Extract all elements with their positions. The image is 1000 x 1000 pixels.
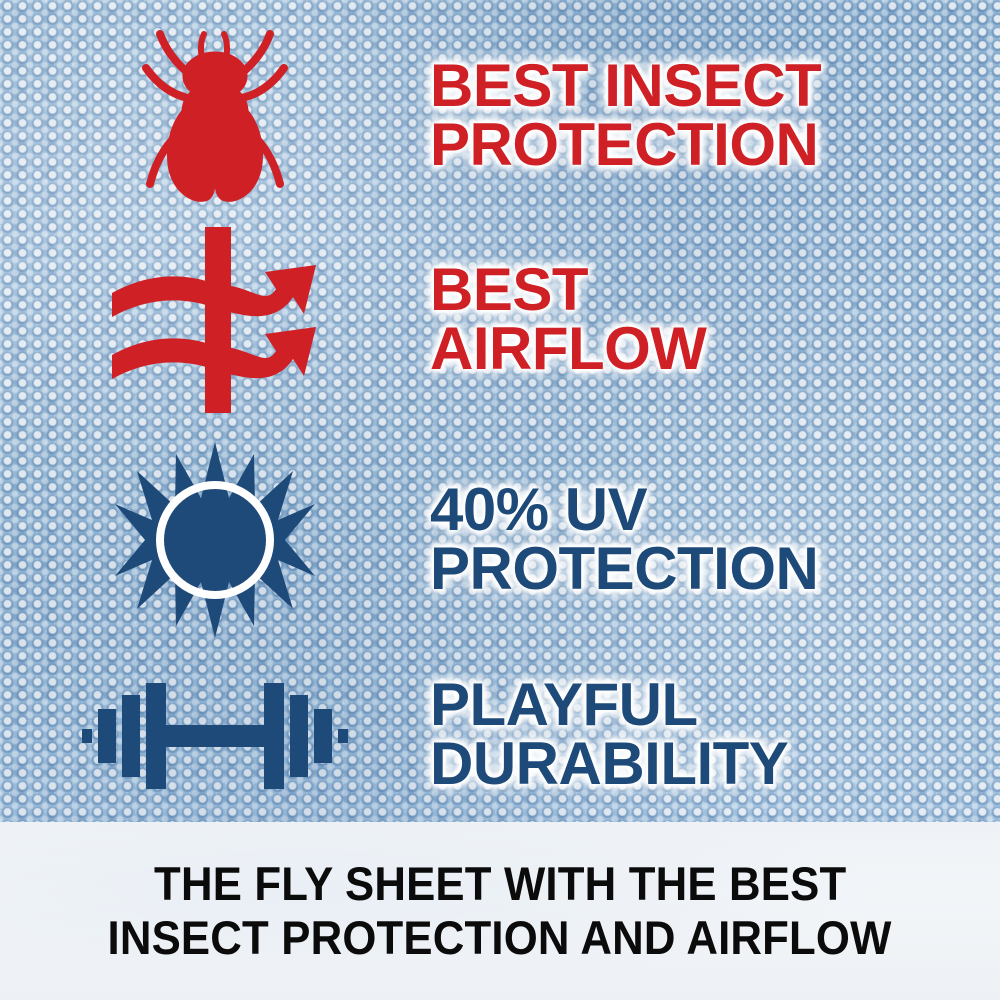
- feature-label-uv-protection: 40% UV PROTECTION: [430, 481, 1000, 599]
- feature-row-uv-protection: 40% UV PROTECTION: [0, 438, 1000, 642]
- feature-row-insect-protection: BEST INSECT PROTECTION: [0, 18, 1000, 214]
- feature-label-line-2: PROTECTION: [430, 116, 982, 175]
- feature-label-line-1: 40% UV: [430, 481, 982, 540]
- feature-label-line-1: BEST: [430, 261, 982, 320]
- feature-label-line-2: PROTECTION: [430, 540, 982, 599]
- feature-icon-uv-protection: [0, 442, 430, 638]
- airflow-arrows-icon: [108, 227, 323, 413]
- feature-label-durability: PLAYFUL DURABILITY: [430, 676, 1000, 794]
- feature-label-line-1: BEST INSECT: [430, 57, 982, 116]
- feature-label-insect-protection: BEST INSECT PROTECTION: [430, 57, 1000, 175]
- feature-label-line-1: PLAYFUL: [430, 676, 982, 735]
- feature-icon-durability: [0, 673, 430, 798]
- caption-band: THE FLY SHEET WITH THE BEST INSECT PROTE…: [0, 822, 1000, 1000]
- feature-list: BEST INSECT PROTECTION: [0, 0, 1000, 822]
- feature-label-airflow: BEST AIRFLOW: [430, 261, 1000, 379]
- caption-line-2: INSECT PROTECTION AND AIRFLOW: [108, 911, 892, 965]
- product-feature-poster: BEST INSECT PROTECTION: [0, 0, 1000, 1000]
- feature-icon-airflow: [0, 227, 430, 413]
- feature-label-line-2: AIRFLOW: [430, 320, 982, 379]
- feature-row-durability: PLAYFUL DURABILITY: [0, 648, 1000, 822]
- sun-icon: [115, 442, 315, 638]
- feature-icon-insect-protection: [0, 24, 430, 209]
- caption-line-1: THE FLY SHEET WITH THE BEST: [154, 857, 846, 911]
- feature-label-line-2: DURABILITY: [430, 735, 982, 794]
- feature-row-airflow: BEST AIRFLOW: [0, 222, 1000, 418]
- fly-icon: [130, 24, 300, 209]
- dumbbell-icon: [80, 673, 350, 798]
